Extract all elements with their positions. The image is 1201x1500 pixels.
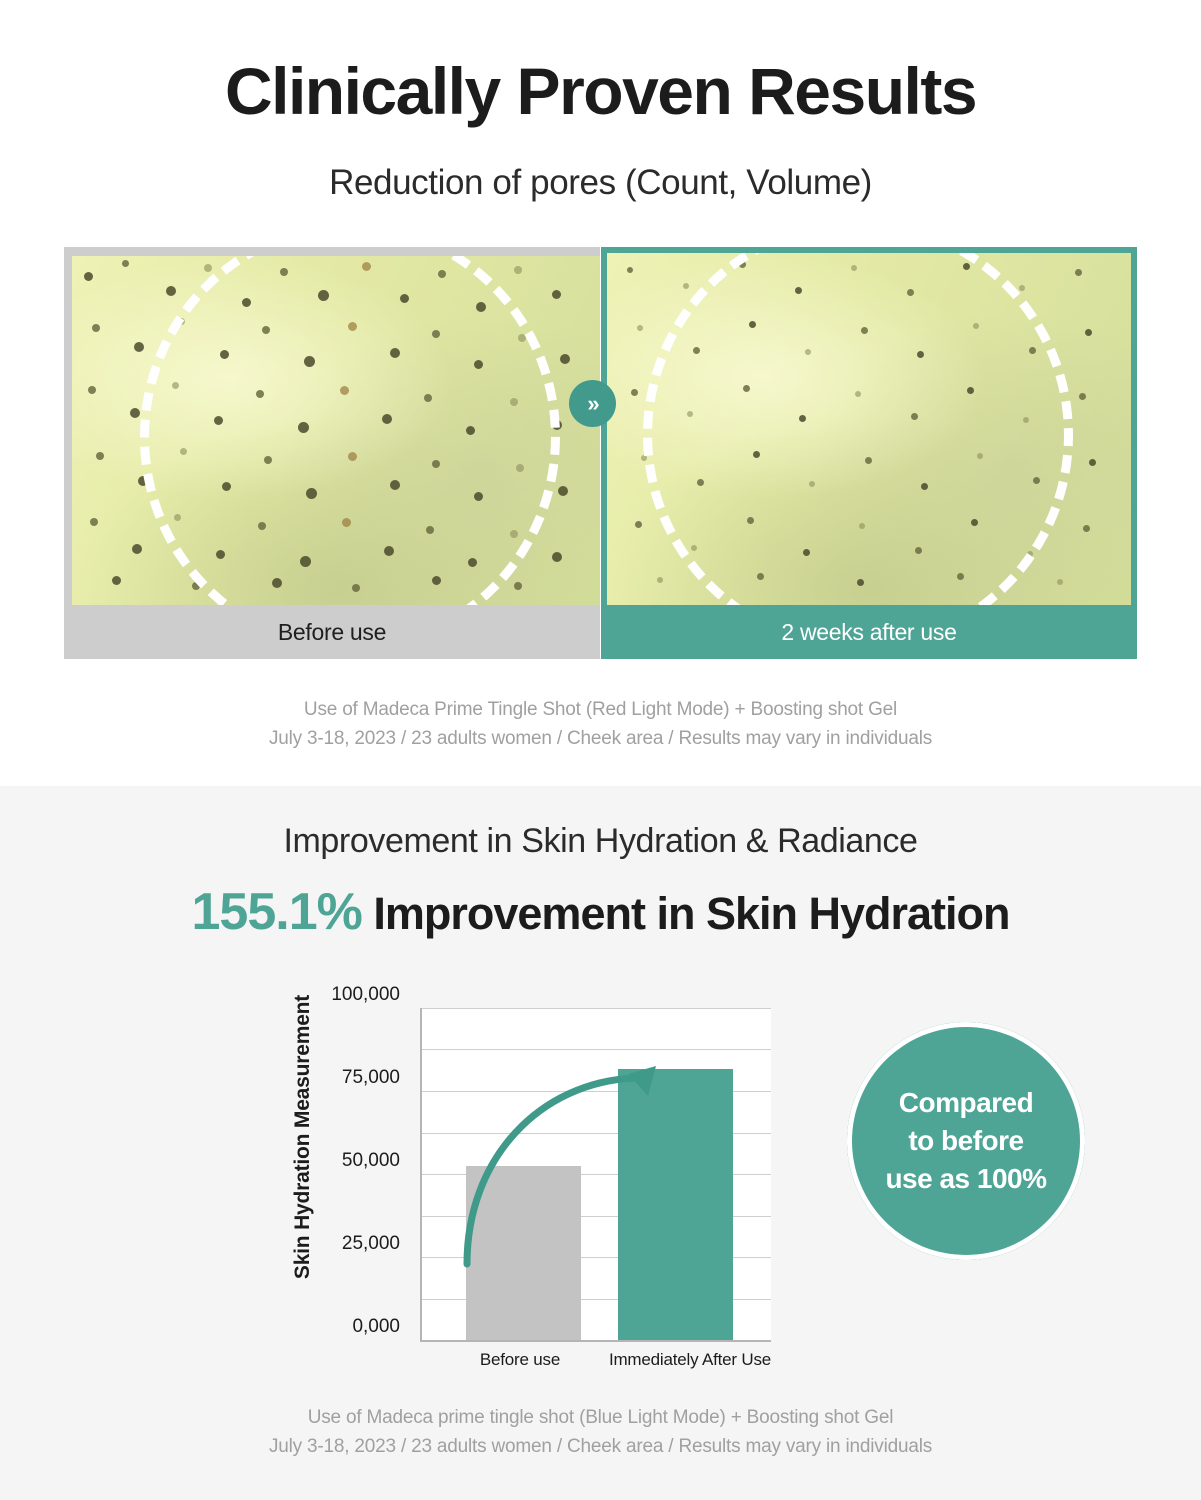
bar-before-use [466, 1166, 581, 1340]
after-skin-photo [607, 253, 1131, 605]
y-tick-label: 0,000 [352, 1316, 400, 1338]
bar-immediately-after-use [618, 1069, 733, 1340]
y-tick-label: 75,000 [342, 1067, 400, 1089]
study-caption-pores: Use of Madeca Prime Tingle Shot (Red Lig… [0, 695, 1201, 753]
hydration-headline: 155.1% Improvement in Skin Hydration [0, 882, 1201, 942]
hydration-bar-chart: Skin Hydration Measurement 0,000 25,000 … [250, 995, 810, 1395]
hydration-percent: 155.1% [192, 883, 362, 941]
before-skin-photo [72, 256, 600, 605]
gridline [422, 1049, 771, 1050]
badge-line-2: to before [885, 1122, 1046, 1160]
chart-x-labels: Before use Immediately After Use [420, 1350, 771, 1380]
y-tick-label: 25,000 [342, 1233, 400, 1255]
caption-line-1: Use of Madeca Prime Tingle Shot (Red Lig… [0, 695, 1201, 724]
before-label: Before use [64, 605, 600, 659]
hydration-headline-rest: Improvement in Skin Hydration [362, 888, 1010, 939]
y-tick-label: 100,000 [331, 984, 400, 1006]
chart-y-ticks: 0,000 25,000 50,000 75,000 100,000 [310, 995, 400, 1345]
caption-line-2: July 3-18, 2023 / 23 adults women / Chee… [0, 724, 1201, 753]
hydration-section-title: Improvement in Skin Hydration & Radiance [0, 822, 1201, 861]
measurement-circle-overlay [643, 253, 1073, 605]
chart-plot-area [420, 1008, 771, 1342]
after-label: 2 weeks after use [601, 605, 1137, 659]
gridline [422, 1008, 771, 1009]
comparison-baseline-badge: Compared to before use as 100% [847, 1022, 1085, 1260]
double-chevron-right-icon: » [569, 380, 616, 427]
after-pane: 2 weeks after use [601, 247, 1137, 659]
before-after-comparison: Before use [64, 247, 1137, 659]
before-pane: Before use [64, 247, 600, 659]
badge-line-3: use as 100% [885, 1160, 1046, 1198]
x-tick-label-after: Immediately After Use [560, 1350, 820, 1370]
badge-line-1: Compared [885, 1084, 1046, 1122]
caption-line-1: Use of Madeca prime tingle shot (Blue Li… [0, 1403, 1201, 1432]
caption-line-2: July 3-18, 2023 / 23 adults women / Chee… [0, 1432, 1201, 1461]
page-title: Clinically Proven Results [0, 53, 1201, 129]
clinical-results-section: Clinically Proven Results Reduction of p… [0, 0, 1201, 786]
study-caption-hydration: Use of Madeca prime tingle shot (Blue Li… [0, 1403, 1201, 1461]
page-subtitle: Reduction of pores (Count, Volume) [0, 163, 1201, 203]
y-tick-label: 50,000 [342, 1150, 400, 1172]
measurement-circle-overlay [140, 256, 560, 605]
